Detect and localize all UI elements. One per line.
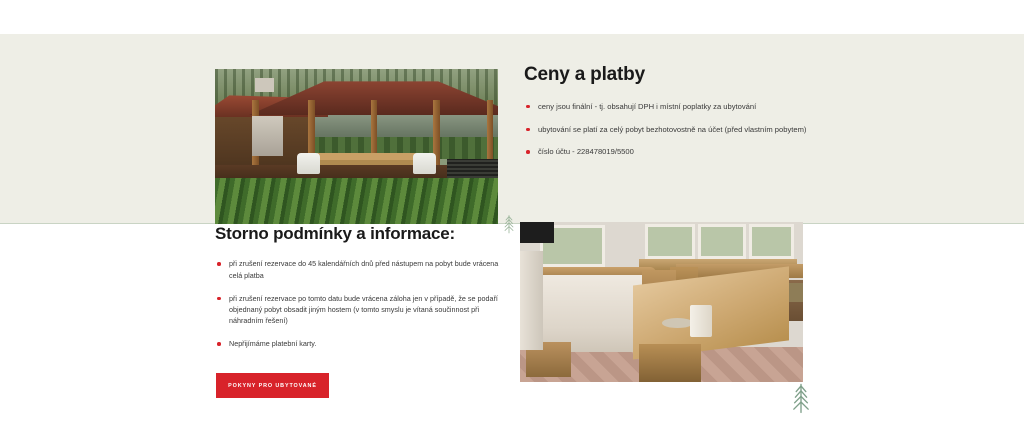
cancellation-heading: Storno podmínky a informace: <box>215 224 505 244</box>
photo-bench <box>320 160 413 165</box>
list-item: při zrušení rezervace po tomto datu bude… <box>215 293 505 326</box>
fir-tree-icon <box>791 382 811 414</box>
photo-chair <box>639 344 701 382</box>
list-item: ceny jsou finální - tj. obsahují DPH i m… <box>524 101 944 113</box>
photo-foreground-bushes <box>215 178 498 225</box>
list-item: ubytování se platí za celý pobyt bezhoto… <box>524 124 944 136</box>
photo-window <box>698 224 746 259</box>
prices-heading: Ceny a platby <box>524 64 944 87</box>
prices-list: ceny jsou finální - tj. obsahují DPH i m… <box>524 101 944 158</box>
photo-chair <box>297 153 320 175</box>
room-photo <box>520 222 803 382</box>
photo-stove <box>252 116 283 156</box>
photo-window <box>749 224 794 259</box>
cancellation-list: při zrušení rezervace do 45 kalendářních… <box>215 258 505 349</box>
photo-window <box>645 224 696 259</box>
list-item: číslo účtu - 228478019/5500 <box>524 146 944 158</box>
photo-tv <box>520 222 554 243</box>
cancellation-section: Storno podmínky a informace: při zrušení… <box>215 224 505 361</box>
photo-paper-roll <box>690 305 713 337</box>
photo-plate <box>662 318 693 328</box>
photo-chimney <box>255 78 275 92</box>
list-item: při zrušení rezervace do 45 kalendářních… <box>215 258 505 280</box>
photo-table <box>317 153 419 161</box>
pokyny-pro-ubytovane-button[interactable]: POKYNY PRO UBYTOVANÉ <box>216 373 329 398</box>
photo-chair <box>413 153 436 175</box>
gazebo-photo <box>215 69 498 224</box>
page-root: Ceny a platby ceny jsou finální - tj. ob… <box>0 0 1024 426</box>
list-item: Nepřijímáme platební karty. <box>215 338 505 349</box>
photo-wardrobe <box>520 251 543 350</box>
fir-tree-icon <box>503 212 515 236</box>
prices-section: Ceny a platby ceny jsou finální - tj. ob… <box>524 64 944 169</box>
